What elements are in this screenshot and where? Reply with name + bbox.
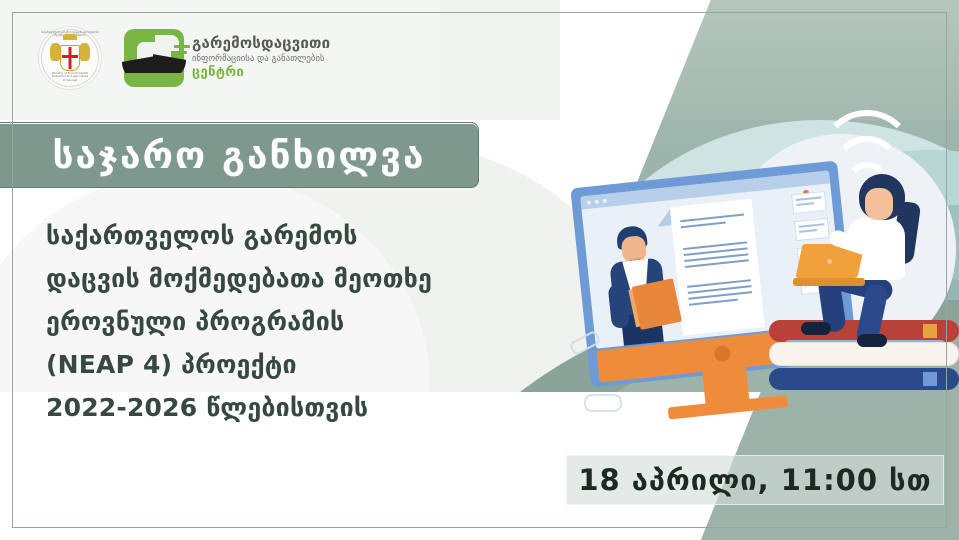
presenter-person [600, 223, 678, 347]
page-title: საჯარო განხილვა [53, 134, 426, 177]
announcement-body: საქართველოს გარემოს დაცვის მოქმედებათა მ… [46, 214, 476, 429]
eiec-logo-line-2: ინფორმაციისა და განათლების [192, 54, 330, 64]
logo-row: საქართველოს გარემოს დაცვისა და სოფლის მე… [38, 26, 330, 90]
event-datetime-text: 18 აპრილი, 11:00 სთ [578, 463, 931, 497]
eiec-logo-line-3: ცენტრი [192, 65, 330, 80]
announcement-line-2: დაცვის მოქმედებათა მეოთხე [46, 257, 476, 300]
online-public-consultation-illustration [576, 140, 959, 400]
eiec-logo-line-1: გარემოსდაცვითი [192, 35, 330, 53]
document-on-screen [670, 199, 765, 336]
woman-with-laptop [789, 174, 939, 344]
announcement-line-3: ეროვნული პროგრამის [46, 300, 476, 343]
title-banner: საჯარო განხილვა [0, 122, 479, 188]
announcement-line-4: (NEAP 4) პროექტი [46, 343, 476, 386]
eiec-logo-mark-icon [124, 29, 184, 87]
bottom-white-block [0, 420, 440, 540]
georgia-shield-icon [60, 45, 80, 71]
eiec-logo: გარემოსდაცვითი ინფორმაციისა და განათლები… [124, 29, 330, 87]
emblem-caption-line-3: of Georgia [63, 79, 78, 82]
announcement-line-5: 2022-2026 წლებისთვის [46, 386, 476, 429]
eiec-logo-text: გარემოსდაცვითი ინფორმაციისა და განათლები… [192, 35, 330, 80]
ministry-of-environment-emblem-icon: საქართველოს გარემოს დაცვისა და სოფლის მე… [38, 26, 102, 90]
event-datetime-chip: 18 აპრილი, 11:00 სთ [566, 455, 944, 505]
poster-canvas: საქართველოს გარემოს დაცვისა და სოფლის მე… [0, 0, 959, 540]
mouse-icon [584, 394, 622, 412]
announcement-line-1: საქართველოს გარემოს [46, 214, 476, 257]
emblem-caption: Ministry of Environmental Protection and… [39, 72, 101, 82]
